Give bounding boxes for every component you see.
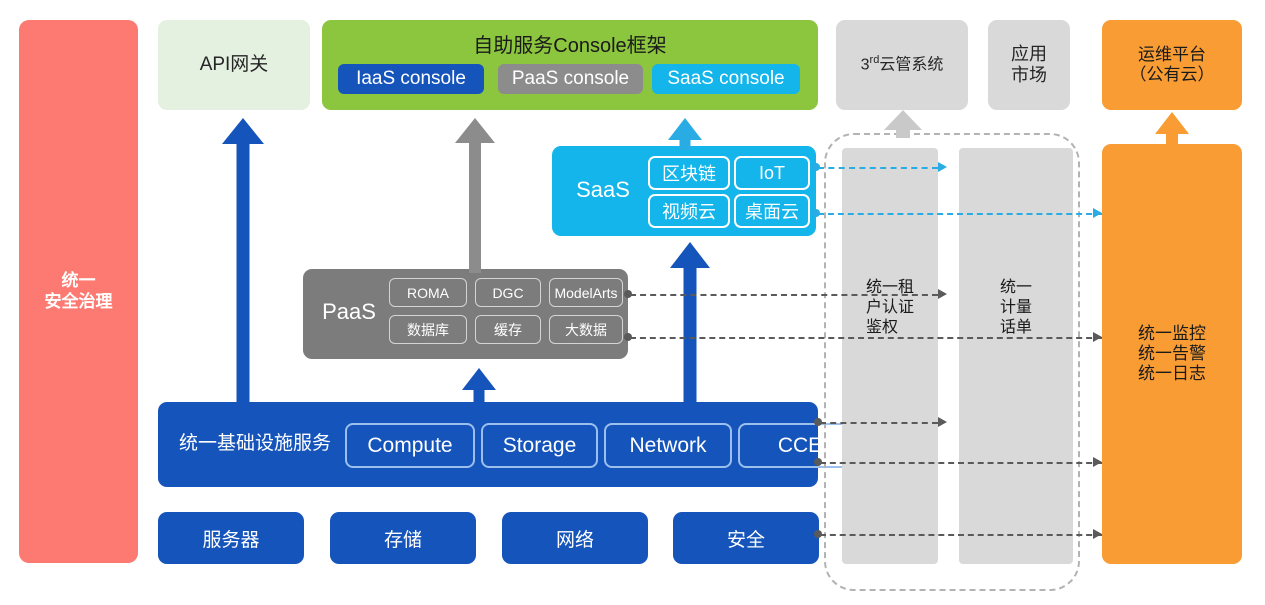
unified-tenant-auth-column (842, 148, 938, 564)
unified-monitoring-panel: 统一监控统一告警统一日志 (1102, 144, 1242, 564)
paas-layer-box: PaaS ROMA DGC ModelArts 数据库 缓存 大数据 (303, 269, 628, 359)
dashed-line-infra-to-auth (820, 422, 938, 424)
api-gateway-label: API网关 (200, 54, 269, 76)
unified-metering-label: 统一计量话单 (959, 278, 1073, 338)
arrow-infra-to-api-gateway (222, 118, 264, 406)
dashed-line-paas-to-auth (630, 294, 938, 296)
dash-arrowhead (938, 162, 947, 172)
unified-tenant-auth-label: 统一租户认证鉴权 (842, 278, 938, 338)
paas-layer-label: PaaS (311, 299, 387, 325)
paas-console-chip[interactable]: PaaS console (498, 64, 643, 94)
hardware-box-server: 服务器 (158, 512, 304, 564)
hardware-box-security: 安全 (673, 512, 819, 564)
arrow-monitor-to-ops-platform (1155, 112, 1189, 146)
arrow-infra-to-saas (670, 242, 710, 406)
saas-layer-label: SaaS (564, 177, 642, 203)
dash-arrowhead (938, 289, 947, 299)
dashed-line-saas-to-monitor (818, 213, 1102, 215)
api-gateway-box: API网关 (158, 20, 310, 110)
saas-service-video-cloud[interactable]: 视频云 (648, 194, 730, 228)
unified-monitoring-label: 统一监控统一告警统一日志 (1138, 324, 1206, 384)
saas-console-chip[interactable]: SaaS console (652, 64, 800, 94)
dashed-line-saas-to-auth (818, 167, 938, 169)
dashed-line-infra-to-monitor (820, 462, 1102, 464)
console-frame-title: 自助服务Console框架 (322, 29, 818, 58)
hardware-box-network: 网络 (502, 512, 648, 564)
third-party-cloud-mgmt-box: 3rd云管系统 (836, 20, 968, 110)
dash-arrowhead (1093, 208, 1102, 218)
third-party-cloud-mgmt-label: 3rd云管系统 (861, 54, 944, 75)
arrow-saas-to-console (668, 118, 702, 150)
paas-service-dgc[interactable]: DGC (475, 278, 541, 307)
ops-platform-label: 运维平台（公有云） (1130, 45, 1215, 85)
paas-service-bigdata[interactable]: 大数据 (549, 315, 623, 344)
hardware-box-storage: 存储 (330, 512, 476, 564)
iaas-console-chip[interactable]: IaaS console (338, 64, 484, 94)
saas-service-desktop-cloud[interactable]: 桌面云 (734, 194, 810, 228)
app-market-box: 应用市场 (988, 20, 1070, 110)
unified-metering-column (959, 148, 1073, 564)
security-governance-label: 统一安全治理 (45, 271, 113, 311)
saas-service-blockchain[interactable]: 区块链 (648, 156, 730, 190)
security-governance-panel: 统一安全治理 (19, 20, 138, 563)
dashed-line-paas-to-monitor (630, 337, 1102, 339)
dash-arrowhead (1093, 457, 1102, 467)
ops-platform-box: 运维平台（公有云） (1102, 20, 1242, 110)
dash-arrowhead (1093, 529, 1102, 539)
unified-infrastructure-bar: 统一基础设施服务 Compute Storage Network CCE (158, 402, 818, 487)
arrow-region-to-third-cloud (884, 110, 922, 138)
infra-service-compute[interactable]: Compute (345, 423, 475, 468)
self-service-console-frame: 自助服务Console框架 IaaS console PaaS console … (322, 20, 818, 110)
paas-service-modelarts[interactable]: ModelArts (549, 278, 623, 307)
dash-arrowhead (938, 417, 947, 427)
paas-service-database[interactable]: 数据库 (389, 315, 467, 344)
unified-infrastructure-label: 统一基础设施服务 (170, 428, 340, 455)
saas-layer-box: SaaS 区块链 IoT 视频云 桌面云 (552, 146, 816, 236)
infra-service-network[interactable]: Network (604, 423, 732, 468)
arrow-infra-to-paas (462, 368, 496, 406)
saas-service-iot[interactable]: IoT (734, 156, 810, 190)
infra-service-storage[interactable]: Storage (481, 423, 598, 468)
dashed-line-hardware-to-monitor (820, 534, 1102, 536)
dash-arrowhead (1093, 332, 1102, 342)
paas-service-roma[interactable]: ROMA (389, 278, 467, 307)
arrow-paas-to-console (455, 118, 495, 273)
paas-service-cache[interactable]: 缓存 (475, 315, 541, 344)
app-market-label: 应用市场 (1011, 44, 1047, 86)
